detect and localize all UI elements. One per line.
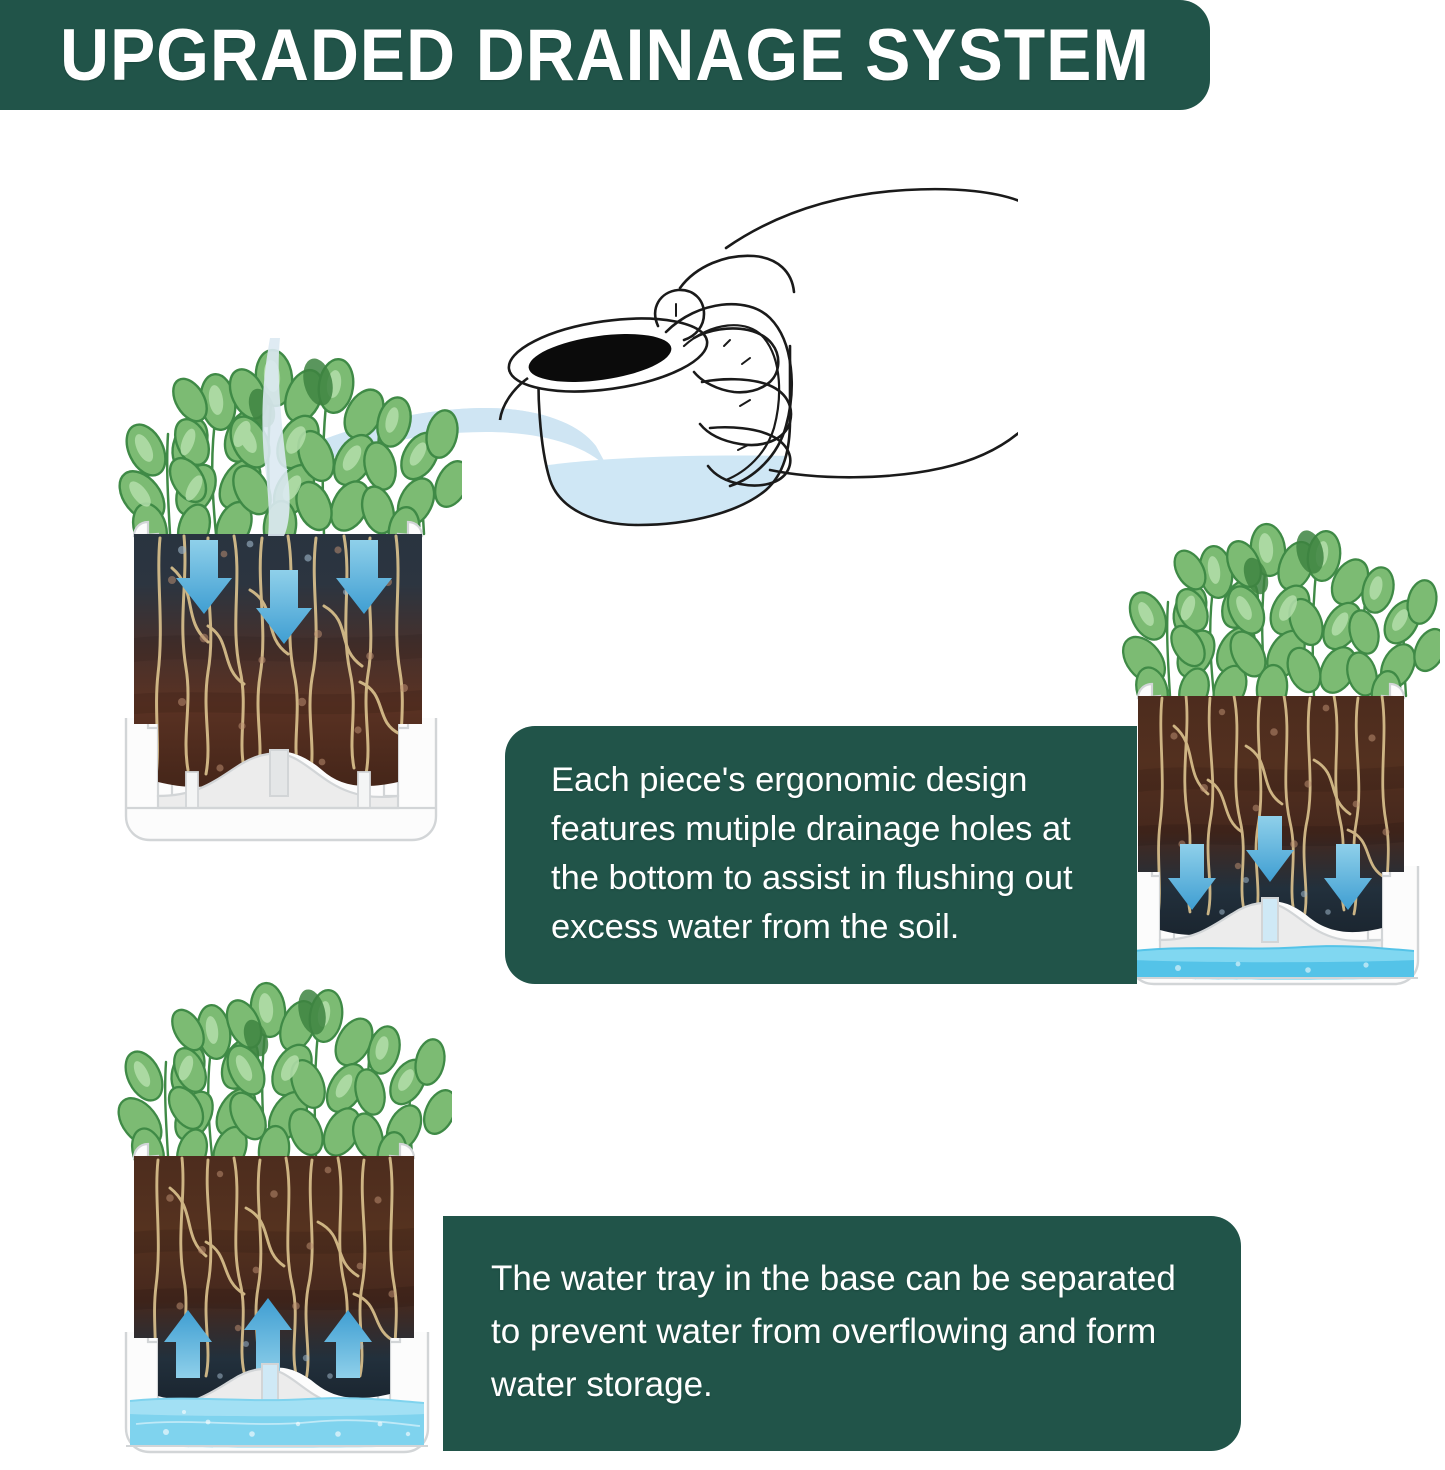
tray-water-layer — [130, 1397, 424, 1447]
center-drain-channel — [1262, 898, 1278, 942]
callout-water-tray-text: The water tray in the base can be separa… — [491, 1252, 1201, 1412]
planter-cross-section-watering — [112, 338, 462, 868]
planter-cross-section-draining — [1118, 520, 1440, 1010]
callout-drainage-holes: Each piece's ergonomic design features m… — [505, 726, 1137, 984]
callout-water-tray: The water tray in the base can be separa… — [443, 1216, 1241, 1451]
center-drain-channel — [270, 750, 288, 796]
tray-water-layer — [1134, 945, 1414, 979]
page-title: UPGRADED DRAINAGE SYSTEM — [60, 19, 1150, 92]
hand-icon — [655, 189, 1018, 485]
planter-cross-section-wicking — [112, 976, 452, 1470]
callout-drainage-holes-text: Each piece's ergonomic design features m… — [551, 756, 1103, 952]
header-banner: UPGRADED DRAINAGE SYSTEM — [0, 0, 1210, 110]
